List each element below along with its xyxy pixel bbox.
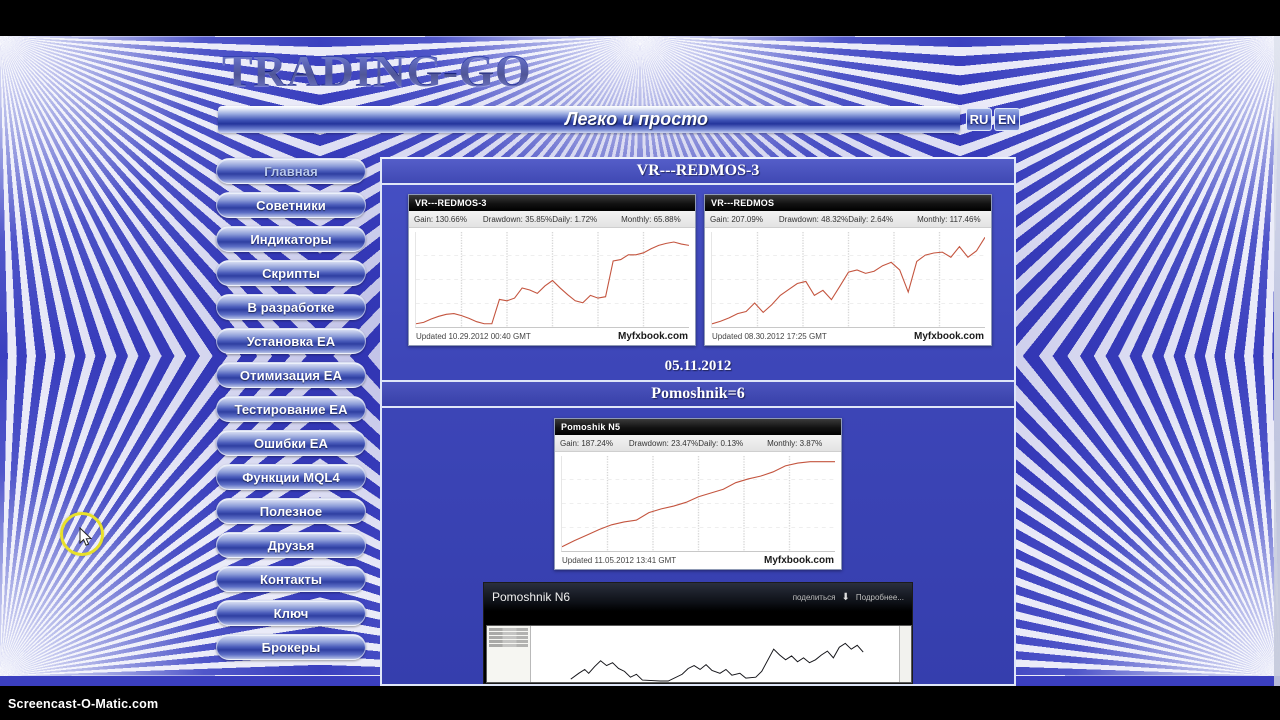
download-icon[interactable]: ⬇ bbox=[841, 592, 849, 603]
metatrader-screenshot bbox=[486, 625, 912, 683]
market-watch-panel bbox=[487, 626, 531, 682]
screencast-watermark: Screencast-O-Matic.com bbox=[8, 697, 158, 711]
sidebar-item-label: Друзья bbox=[268, 538, 315, 553]
myfxbook-brand: Myfxbook.com bbox=[618, 331, 688, 342]
myfxbook-widget[interactable]: VR---REDMOS-3 Gain: 130.66% Drawdown: 35… bbox=[408, 194, 696, 346]
sidebar-item-12[interactable]: Друзья bbox=[216, 532, 366, 558]
sidebar-item-9[interactable]: Ошибки EA bbox=[216, 430, 366, 456]
price-scale bbox=[899, 626, 911, 682]
page-scrollbar[interactable] bbox=[1274, 36, 1280, 686]
stat-gain: Gain: 207.09% bbox=[710, 215, 779, 224]
stat-monthly: Monthly: 3.87% bbox=[767, 439, 836, 448]
sidebar-item-3[interactable]: Индикаторы bbox=[216, 226, 366, 252]
sidebar-item-label: Функции MQL4 bbox=[242, 470, 340, 485]
sidebar-item-label: В разработке bbox=[248, 300, 335, 315]
widget-title: Pomoshik N5 bbox=[555, 419, 841, 435]
widget-title: VR---REDMOS-3 bbox=[409, 195, 695, 211]
sidebar-item-label: Ключ bbox=[274, 606, 309, 621]
myfxbook-brand: Myfxbook.com bbox=[764, 555, 834, 566]
section-heading-redmos3: VR---REDMOS-3 bbox=[382, 159, 1014, 185]
sidebar-item-14[interactable]: Ключ bbox=[216, 600, 366, 626]
stat-monthly: Monthly: 117.46% bbox=[917, 215, 986, 224]
sidebar-item-2[interactable]: Советники bbox=[216, 192, 366, 218]
video-actions: поделиться ⬇ Подробнее... bbox=[793, 592, 904, 603]
widget-updated: Updated 11.05.2012 13:41 GMT bbox=[562, 556, 676, 565]
stat-monthly: Monthly: 65.88% bbox=[621, 215, 690, 224]
stat-daily: Daily: 0.13% bbox=[698, 439, 767, 448]
market-watch-row bbox=[489, 636, 528, 639]
mouse-cursor-icon bbox=[79, 527, 93, 547]
sidebar-item-11[interactable]: Полезное bbox=[216, 498, 366, 524]
stat-drawdown: Drawdown: 48.32% bbox=[779, 215, 848, 224]
chart-svg bbox=[562, 456, 835, 551]
sidebar-navigation: ГлавнаяСоветникиИндикаторыСкриптыВ разра… bbox=[216, 158, 366, 660]
sidebar-item-13[interactable]: Контакты bbox=[216, 566, 366, 592]
myfxbook-widget[interactable]: Pomoshik N5 Gain: 187.24% Drawdown: 23.4… bbox=[554, 418, 842, 570]
language-button-en[interactable]: EN bbox=[994, 108, 1020, 131]
sidebar-item-6[interactable]: Установка EA bbox=[216, 328, 366, 354]
sidebar-item-label: Брокеры bbox=[262, 640, 321, 655]
chart-svg bbox=[712, 232, 985, 327]
stat-drawdown: Drawdown: 35.85% bbox=[483, 215, 552, 224]
widget-stats: Gain: 207.09% Drawdown: 48.32% Daily: 2.… bbox=[705, 211, 991, 228]
growth-chart bbox=[711, 232, 985, 328]
market-watch-row bbox=[489, 632, 528, 635]
growth-chart bbox=[415, 232, 689, 328]
widget-row: VR---REDMOS-3 Gain: 130.66% Drawdown: 35… bbox=[382, 185, 1014, 352]
market-watch-row bbox=[489, 628, 528, 631]
sidebar-item-label: Полезное bbox=[260, 504, 323, 519]
sidebar-item-8[interactable]: Тестирование EA bbox=[216, 396, 366, 422]
sidebar-item-10[interactable]: Функции MQL4 bbox=[216, 464, 366, 490]
sidebar-item-5[interactable]: В разработке bbox=[216, 294, 366, 320]
stat-daily: Daily: 2.64% bbox=[848, 215, 917, 224]
more-details-label[interactable]: Подробнее... bbox=[856, 593, 904, 602]
screen-recording-frame: TRADING-GO Легко и просто RU EN ГлавнаяС… bbox=[0, 0, 1280, 720]
stat-daily: Daily: 1.72% bbox=[552, 215, 621, 224]
sidebar-item-label: Ошибки EA bbox=[254, 436, 328, 451]
video-viewport[interactable] bbox=[484, 611, 912, 683]
share-label[interactable]: поделиться bbox=[793, 593, 836, 602]
sidebar-item-label: Установка EA bbox=[247, 334, 336, 349]
widget-title: VR---REDMOS bbox=[705, 195, 991, 211]
chart-svg bbox=[416, 232, 689, 327]
section-heading-pomoshnik6: Pomoshnik=6 bbox=[382, 382, 1014, 408]
site-tagline: Легко и просто bbox=[218, 109, 958, 130]
stat-gain: Gain: 130.66% bbox=[414, 215, 483, 224]
myfxbook-widget[interactable]: VR---REDMOS Gain: 207.09% Drawdown: 48.3… bbox=[704, 194, 992, 346]
price-chart-svg bbox=[531, 626, 899, 682]
sidebar-item-15[interactable]: Брокеры bbox=[216, 634, 366, 660]
sidebar-item-label: Индикаторы bbox=[250, 232, 331, 247]
myfxbook-brand: Myfxbook.com bbox=[914, 331, 984, 342]
post-date: 05.11.2012 bbox=[382, 352, 1014, 382]
widget-updated: Updated 08.30.2012 17:25 GMT bbox=[712, 332, 827, 341]
widget-stats: Gain: 130.66% Drawdown: 35.85% Daily: 1.… bbox=[409, 211, 695, 228]
letterbox-bottom bbox=[0, 686, 1280, 720]
sidebar-item-label: Главная bbox=[264, 164, 318, 179]
main-content-panel: VR---REDMOS-3 VR---REDMOS-3 Gain: 130.66… bbox=[380, 157, 1016, 686]
widget-stats: Gain: 187.24% Drawdown: 23.47% Daily: 0.… bbox=[555, 435, 841, 452]
sidebar-item-label: Скрипты bbox=[262, 266, 320, 281]
sidebar-item-4[interactable]: Скрипты bbox=[216, 260, 366, 286]
widget-footer: Updated 10.29.2012 00:40 GMT Myfxbook.co… bbox=[409, 328, 695, 345]
market-watch-row bbox=[489, 640, 528, 643]
stat-drawdown: Drawdown: 23.47% bbox=[629, 439, 698, 448]
stat-gain: Gain: 187.24% bbox=[560, 439, 629, 448]
sidebar-item-label: Контакты bbox=[260, 572, 322, 587]
site-logo: TRADING-GO bbox=[222, 44, 531, 97]
sidebar-item-1[interactable]: Главная bbox=[216, 158, 366, 184]
sidebar-item-label: Советники bbox=[256, 198, 326, 213]
widget-row-single: Pomoshik N5 Gain: 187.24% Drawdown: 23.4… bbox=[382, 408, 1014, 578]
widget-footer: Updated 08.30.2012 17:25 GMT Myfxbook.co… bbox=[705, 328, 991, 345]
language-button-ru[interactable]: RU bbox=[966, 108, 992, 131]
video-title: Pomoshnik N6 bbox=[492, 590, 793, 604]
sidebar-item-label: Отимизация EA bbox=[240, 368, 342, 383]
sidebar-item-7[interactable]: Отимизация EA bbox=[216, 362, 366, 388]
widget-footer: Updated 11.05.2012 13:41 GMT Myfxbook.co… bbox=[555, 552, 841, 569]
video-player[interactable]: Pomoshnik N6 поделиться ⬇ Подробнее... bbox=[483, 582, 913, 684]
widget-updated: Updated 10.29.2012 00:40 GMT bbox=[416, 332, 531, 341]
price-chart-area bbox=[531, 626, 899, 682]
letterbox-top bbox=[0, 0, 1280, 36]
sidebar-item-label: Тестирование EA bbox=[234, 402, 347, 417]
growth-chart bbox=[561, 456, 835, 552]
market-watch-row bbox=[489, 644, 528, 647]
video-header: Pomoshnik N6 поделиться ⬇ Подробнее... bbox=[484, 583, 912, 611]
